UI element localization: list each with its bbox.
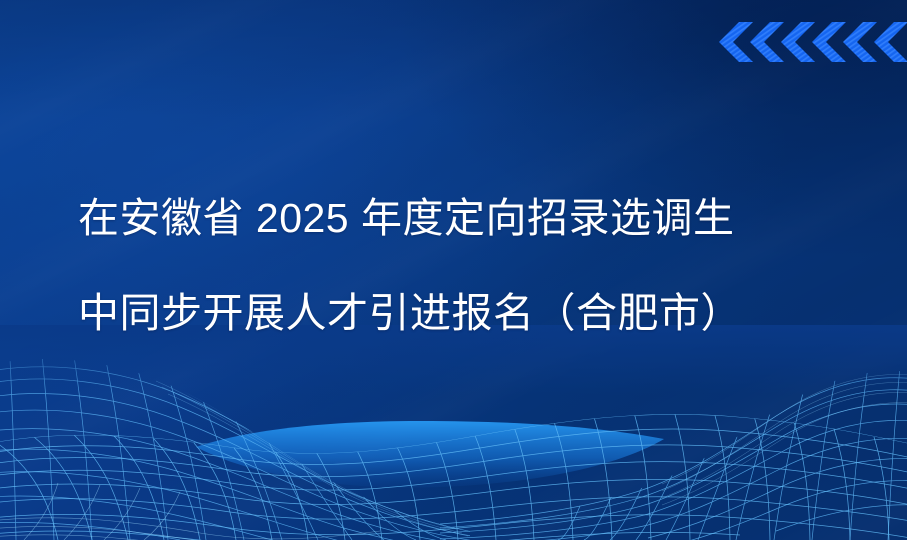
chevrons-left-icon <box>717 22 907 62</box>
headline-line-1: 在安徽省 2025 年度定向招录选调生 <box>78 171 838 266</box>
banner: 在安徽省 2025 年度定向招录选调生 中同步开展人才引进报名（合肥市） <box>0 0 907 540</box>
banner-headline: 在安徽省 2025 年度定向招录选调生 中同步开展人才引进报名（合肥市） <box>78 171 838 361</box>
headline-line-2: 中同步开展人才引进报名（合肥市） <box>78 266 838 361</box>
